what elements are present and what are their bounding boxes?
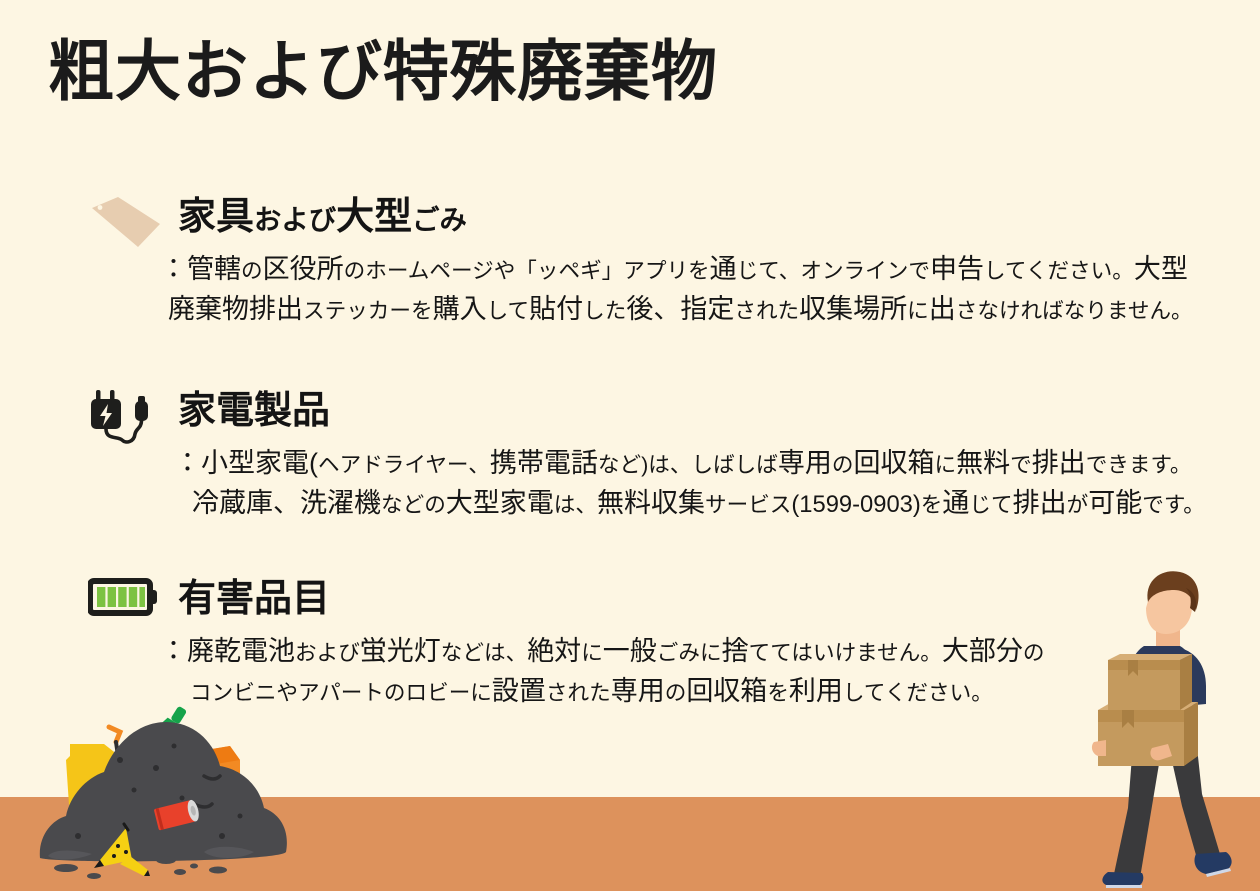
t: に (934, 452, 956, 477)
collection-service-phone: (1599-0903) (791, 491, 920, 518)
t: 通 (710, 254, 737, 284)
t: 収集場所 (799, 294, 907, 324)
t: で (1010, 452, 1032, 477)
heading-part: 家具 (178, 196, 254, 238)
t: ホームページや「ッペギ」アプリ (365, 258, 688, 283)
t: に (581, 640, 603, 665)
t: の (344, 258, 366, 283)
t: 無料収集 (597, 488, 705, 518)
t: に (470, 680, 492, 705)
t: 可能 (1088, 488, 1142, 518)
t: ( (309, 448, 318, 478)
t: 捨 (722, 636, 749, 666)
t: サービス (705, 492, 791, 517)
t: 大型 (1134, 254, 1188, 284)
t: などの (381, 492, 446, 517)
trash-pile-illustration (8, 700, 328, 891)
t: の (665, 680, 687, 705)
t: いけません。 (813, 640, 942, 665)
t: 回収箱 (853, 448, 934, 478)
t: 蛍光灯 (360, 636, 441, 666)
t: 専用 (778, 448, 832, 478)
t: 冷蔵庫、 (192, 488, 300, 518)
t: ：廃乾電池 (160, 636, 295, 666)
section-bulky-waste: 家具および大型ごみ ：管轄の区役所のホームページや「ッペギ」アプリを通じて、オン… (0, 194, 1260, 250)
section-heading-appliances: 家電製品 (178, 388, 330, 436)
t: 一般 (603, 636, 657, 666)
t: ：管轄 (160, 254, 241, 284)
t: 設置 (492, 676, 546, 706)
t: しばしば (691, 452, 777, 477)
tag-icon (88, 194, 164, 250)
t: および (295, 640, 360, 665)
t: ごみ (657, 640, 700, 665)
t: の (1023, 640, 1045, 665)
t: 大部分 (942, 636, 1023, 666)
t: など)は、 (598, 452, 692, 477)
body-line: 冷蔵庫、洗濯機などの大型家電は、無料収集サービス(1599-0903)を通じて排… (174, 484, 1205, 524)
t: です。 (1142, 492, 1205, 517)
t: 通 (942, 488, 969, 518)
t: 排出 (1032, 448, 1086, 478)
t: ：小型家電 (174, 448, 309, 478)
t: 携帯電話 (490, 448, 598, 478)
t: してください。 (984, 258, 1134, 283)
plug-icon (88, 388, 164, 444)
battery-icon (88, 576, 164, 632)
t: じて、 (737, 258, 801, 283)
t: された (546, 680, 611, 705)
t: に (700, 640, 722, 665)
t: 指定 (680, 294, 734, 324)
t: は、 (554, 492, 597, 517)
t: してください。 (843, 680, 993, 705)
t: の (241, 258, 263, 283)
heading-part: ごみ (412, 204, 467, 235)
t: 出 (929, 294, 956, 324)
t: を (921, 492, 943, 517)
t: 絶対 (527, 636, 581, 666)
t: 貼付 (529, 294, 583, 324)
page-title: 粗大および特殊廃棄物 (48, 36, 718, 107)
t: された (734, 298, 799, 323)
t: 利用 (789, 676, 843, 706)
t: できます。 (1086, 452, 1192, 477)
section-home-appliances: 家電製品 ：小型家電(ヘアドライヤー、携帯電話など)は、しばしば専用の回収箱に無… (0, 388, 1260, 444)
t: 申告 (930, 254, 984, 284)
poster-root: 粗大および特殊廃棄物 家具および大型ごみ ：管轄の区役所のホームページや「ッペギ… (0, 0, 1260, 891)
t: の (832, 452, 854, 477)
body-line: 廃棄物排出ステッカーを購入して貼付した後、指定された収集場所に出さなければなりま… (160, 290, 1193, 330)
t: などは、 (441, 640, 527, 665)
t: を (767, 680, 789, 705)
heading-part: および (254, 204, 336, 235)
t: 専用 (611, 676, 665, 706)
t: を (688, 258, 710, 283)
t: 区役所 (263, 254, 344, 284)
t: した (583, 298, 626, 323)
t: ヘアドライヤー、 (318, 452, 490, 477)
body-line: ：廃乾電池および蛍光灯などは、絶対に一般ごみに捨ててはいけません。大部分の (160, 632, 1045, 672)
t: 無料 (956, 448, 1010, 478)
t: で (908, 258, 930, 283)
body-line: ：管轄の区役所のホームページや「ッペギ」アプリを通じて、オンラインで申告してくだ… (160, 250, 1193, 290)
section-body-bulky: ：管轄の区役所のホームページや「ッペギ」アプリを通じて、オンラインで申告してくだ… (160, 250, 1193, 330)
t: オンライン (800, 258, 908, 283)
section-body-appliances: ：小型家電(ヘアドライヤー、携帯電話など)は、しばしば専用の回収箱に無料で排出で… (174, 444, 1205, 524)
t: 回収箱 (686, 676, 767, 706)
t: 購入 (433, 294, 487, 324)
section-heading-bulky: 家具および大型ごみ (178, 194, 467, 242)
section-heading-hazardous: 有害品目 (178, 576, 330, 624)
t: さなければなりません。 (956, 298, 1193, 323)
heading-part: 大型 (336, 196, 412, 238)
t: に (907, 298, 929, 323)
t: 廃棄物排出 (168, 294, 303, 324)
t: 大型家電 (446, 488, 554, 518)
t: して (487, 298, 530, 323)
t: が (1067, 492, 1089, 517)
t: 後、 (626, 294, 680, 324)
body-line: ：小型家電(ヘアドライヤー、携帯電話など)は、しばしば専用の回収箱に無料で排出で… (174, 444, 1205, 484)
person-carrying-boxes-illustration (1056, 562, 1256, 891)
t: じて (969, 492, 1012, 517)
t: 洗濯機 (300, 488, 381, 518)
t: を (411, 298, 433, 323)
t: 排出 (1013, 488, 1067, 518)
t: ステッカー (303, 298, 411, 323)
t: てては (749, 640, 813, 665)
